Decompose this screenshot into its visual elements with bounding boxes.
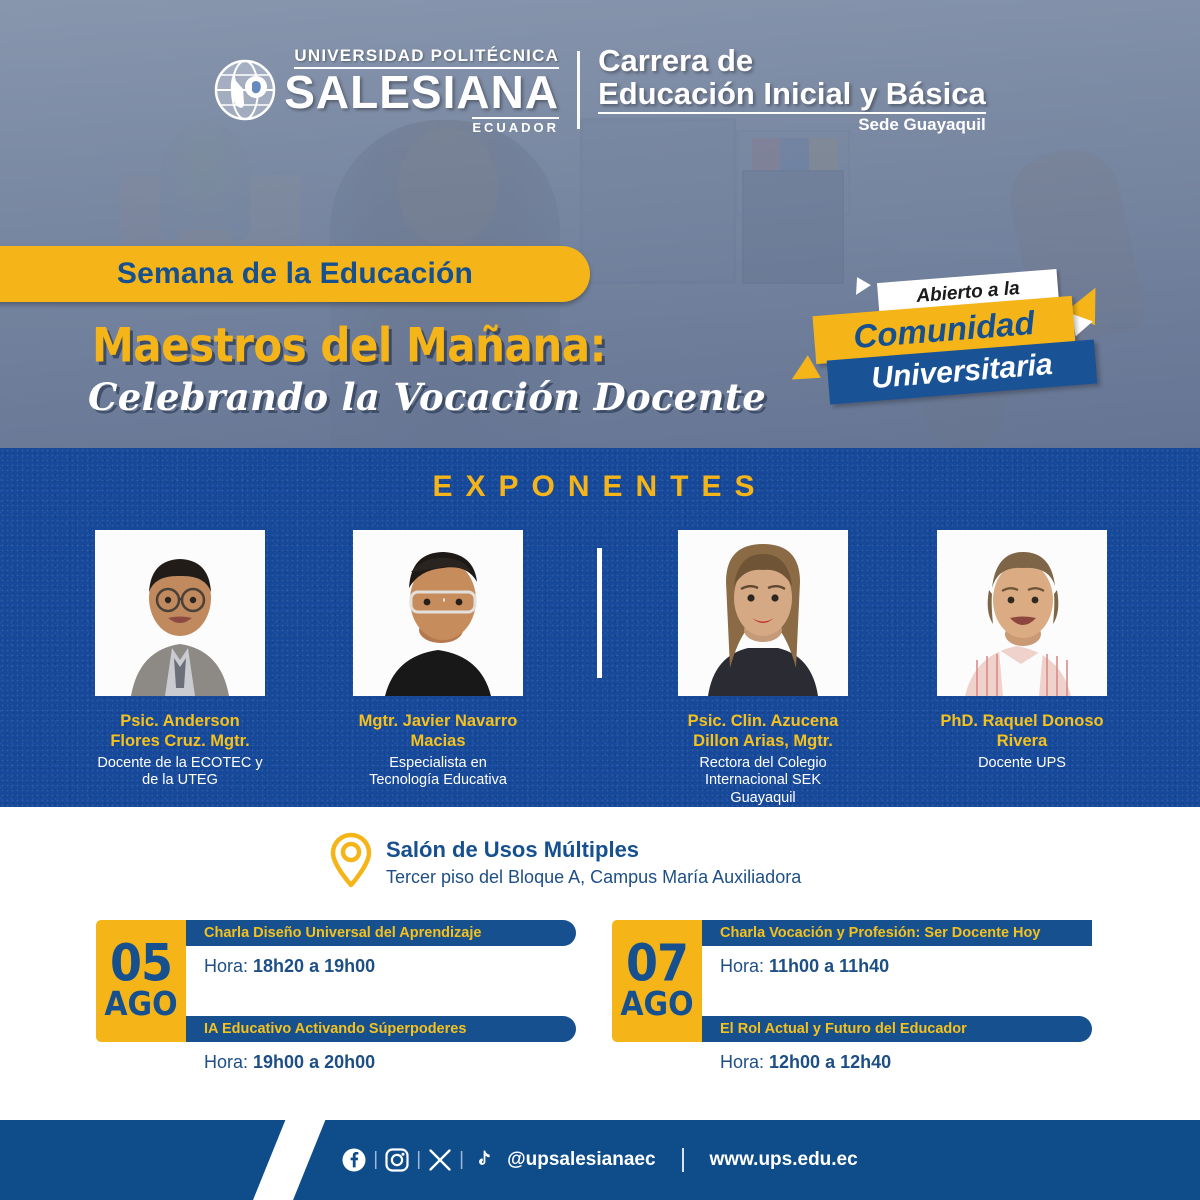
event-time-label: Hora: — [204, 1052, 248, 1072]
event-title: Charla Diseño Universal del Aprendizaje — [204, 925, 481, 941]
university-line2: SALESIANA — [284, 69, 559, 115]
date-month: AGO — [104, 988, 177, 1021]
website-url[interactable]: www.ups.edu.ec — [710, 1149, 858, 1171]
icon-separator: | — [373, 1149, 378, 1171]
speaker-card: Psic. Clin. Azucena Dillon Arias, Mgtr. … — [678, 530, 848, 808]
program-name-block: Carrera de Educación Inicial y Básica Se… — [598, 45, 986, 135]
speaker-role: Especialista en Tecnología Educativa — [353, 755, 523, 790]
venue-address: Tercer piso del Bloque A, Campus María A… — [386, 866, 801, 889]
location-block: Salón de Usos Múltiples Tercer piso del … — [330, 832, 801, 893]
date-badge: 07 AGO — [612, 920, 702, 1042]
event-time-value: 19h00 a 20h00 — [253, 1052, 375, 1072]
speaker-name: Psic. Clin. Azucena Dillon Arias, Mgtr. — [678, 712, 848, 752]
schedule-event: IA Educativo Activando Súperpoderes Hora… — [186, 1016, 576, 1073]
schedule-event: El Rol Actual y Futuro del Educador Hora… — [702, 1016, 1092, 1073]
event-title-bar: IA Educativo Activando Súperpoderes — [186, 1016, 576, 1042]
event-time-row: Hora: 12h00 a 12h40 — [702, 1052, 1092, 1073]
program-campus: Sede Guayaquil — [598, 112, 986, 135]
tiktok-icon[interactable] — [471, 1148, 495, 1172]
event-title: IA Educativo Activando Súperpoderes — [204, 1021, 466, 1037]
speaker-role: Docente de la ECOTEC y de la UTEG — [95, 755, 265, 790]
speaker-photo-anderson-flores — [95, 530, 265, 696]
x-twitter-icon[interactable] — [428, 1148, 452, 1172]
schedule-event: Charla Diseño Universal del Aprendizaje … — [186, 920, 576, 977]
icon-separator: | — [416, 1149, 421, 1171]
schedule-day-block: 07 AGO Charla Vocación y Profesión: Ser … — [612, 920, 1092, 1070]
icon-separator: | — [459, 1149, 464, 1171]
poster-title-sub: Celebrando la Vocación Docente — [88, 375, 766, 419]
poster-title-main: Maestros del Mañana: — [92, 318, 606, 373]
program-line1: Carrera de — [598, 45, 986, 78]
program-line2: Educación Inicial y Básica — [598, 78, 986, 111]
globe-icon — [214, 59, 276, 121]
footer-divider — [682, 1148, 684, 1172]
footer-bar: | | | — [0, 1120, 1200, 1200]
venue-name: Salón de Usos Múltiples — [386, 836, 801, 864]
event-time-value: 18h20 a 19h00 — [253, 956, 375, 976]
location-text: Salón de Usos Múltiples Tercer piso del … — [386, 836, 801, 889]
logo-divider — [577, 51, 580, 129]
speaker-photo-azucena-dillon — [678, 530, 848, 696]
speaker-card: Mgtr. Javier Navarro Macias Especialista… — [353, 530, 523, 790]
speaker-photo-javier-navarro — [353, 530, 523, 696]
map-pin-icon — [330, 832, 372, 893]
badge-bottom-label: Universitaria — [870, 348, 1054, 396]
event-time-row: Hora: 19h00 a 20h00 — [186, 1052, 576, 1073]
date-month: AGO — [620, 988, 693, 1021]
event-week-pill: Semana de la Educación — [0, 246, 590, 302]
event-time-label: Hora: — [720, 1052, 764, 1072]
event-time-label: Hora: — [204, 956, 248, 976]
speaker-role: Docente UPS — [937, 755, 1107, 773]
university-line3: ECUADOR — [472, 117, 559, 135]
event-title: Charla Vocación y Profesión: Ser Docente… — [720, 925, 1040, 941]
date-day: 05 — [110, 940, 172, 988]
event-title: El Rol Actual y Futuro del Educador — [720, 1021, 967, 1037]
speaker-role: Rectora del Colegio Internacional SEK Gu… — [678, 755, 848, 808]
event-week-label: Semana de la Educación — [87, 257, 473, 291]
event-title-bar: Charla Vocación y Profesión: Ser Docente… — [702, 920, 1092, 946]
speakers-divider — [597, 548, 602, 678]
speaker-card: Psic. Anderson Flores Cruz. Mgtr. Docent… — [95, 530, 265, 790]
event-time-value: 11h00 a 11h40 — [769, 956, 889, 976]
instagram-icon[interactable] — [385, 1148, 409, 1172]
speaker-name: Psic. Anderson Flores Cruz. Mgtr. — [95, 712, 265, 752]
schedule-event: Charla Vocación y Profesión: Ser Docente… — [702, 920, 1092, 977]
date-day: 07 — [626, 940, 688, 988]
date-badge: 05 AGO — [96, 920, 186, 1042]
speaker-photo-raquel-donoso — [937, 530, 1107, 696]
event-time-label: Hora: — [720, 956, 764, 976]
schedule-day-block: 05 AGO Charla Diseño Universal del Apren… — [96, 920, 576, 1070]
open-to-community-badge: Abierto a la Comunidad Universitaria — [800, 272, 1130, 397]
university-name-block: UNIVERSIDAD POLITÉCNICA SALESIANA ECUADO… — [284, 45, 559, 135]
event-poster: UNIVERSIDAD POLITÉCNICA SALESIANA ECUADO… — [0, 0, 1200, 1200]
event-time-row: Hora: 11h00 a 11h40 — [702, 956, 1092, 977]
social-icons-group: | | | — [342, 1148, 495, 1172]
event-time-value: 12h00 a 12h40 — [769, 1052, 891, 1072]
social-handle[interactable]: @upsalesianaec — [507, 1149, 655, 1171]
event-title-bar: El Rol Actual y Futuro del Educador — [702, 1016, 1092, 1042]
speaker-name: Mgtr. Javier Navarro Macias — [353, 712, 523, 752]
speakers-heading: EXPONENTES — [0, 470, 1200, 504]
sparkle-icon — [849, 277, 871, 299]
speaker-card: PhD. Raquel Donoso Rivera Docente UPS — [937, 530, 1107, 772]
speaker-name: PhD. Raquel Donoso Rivera — [937, 712, 1107, 752]
event-title-bar: Charla Diseño Universal del Aprendizaje — [186, 920, 576, 946]
event-time-row: Hora: 18h20 a 19h00 — [186, 956, 576, 977]
brand-header: UNIVERSIDAD POLITÉCNICA SALESIANA ECUADO… — [0, 42, 1200, 138]
facebook-icon[interactable] — [342, 1148, 366, 1172]
